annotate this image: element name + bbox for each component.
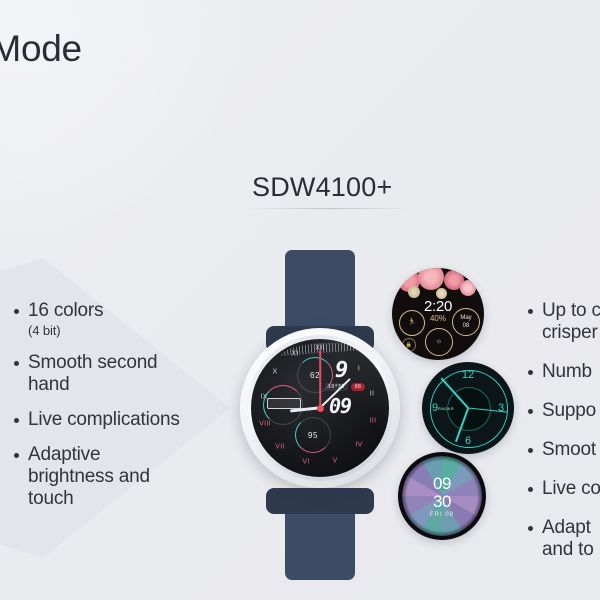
list-item-line2: and to xyxy=(542,539,594,561)
list-item-label: Up to c xyxy=(542,300,600,321)
flower-petal-icon xyxy=(460,280,476,296)
list-item: Smooth second hand xyxy=(14,352,224,396)
digital-hour-value: 9 xyxy=(323,361,385,381)
bullet-dot-icon xyxy=(528,409,533,414)
radar-numeral-12: 12 xyxy=(462,369,474,381)
lock-icon[interactable]: 🔒 xyxy=(402,338,416,352)
page-title: ient Mode xyxy=(0,28,82,70)
roman-numeral-vii: VII xyxy=(275,444,284,451)
digital-status-row: 10*36 08 xyxy=(323,383,385,391)
list-item-subtext: (4 bit) xyxy=(28,323,103,339)
left-feature-list: 16 colors (4 bit) Smooth second hand Liv… xyxy=(14,300,224,523)
watch-lug-bottom xyxy=(266,488,374,514)
watchface-floral[interactable]: 2:20 40% 🏃 May 08 ☼ 🔒 xyxy=(392,268,484,360)
bullet-dot-icon xyxy=(528,370,533,375)
smartwatch-render: XII XI X IX VIII VII VI V IV III II I 62… xyxy=(236,250,404,580)
watchface-radar[interactable]: 12 3 6 9 RADAR xyxy=(422,362,514,454)
list-item: 16 colors (4 bit) xyxy=(14,300,224,339)
list-item: Adaptive brightness and touch xyxy=(14,444,224,510)
product-model-label: SDW4100+ xyxy=(252,172,392,203)
bullet-dot-icon xyxy=(528,309,533,314)
floral-date: May 08 xyxy=(452,308,480,336)
roman-numeral-x: X xyxy=(273,369,278,376)
subdial-left-gauge xyxy=(267,398,301,409)
bullet-dot-icon xyxy=(528,448,533,453)
watch-case: XII XI X IX VIII VII VI V IV III II I 62… xyxy=(240,328,400,488)
digital-badge-value: 08 xyxy=(351,383,366,391)
subdial-bottom: 95 xyxy=(295,417,331,453)
radar-numeral-6: 6 xyxy=(465,435,471,447)
roman-numeral-viii: VIII xyxy=(259,421,271,428)
list-item-label: Smoot xyxy=(542,439,596,461)
bullet-dot-icon xyxy=(14,309,19,314)
petal-hour: 09 xyxy=(398,474,486,494)
list-item-line2: crisper xyxy=(542,322,600,344)
petal-minute: 30 xyxy=(398,492,486,512)
list-item: Smoot xyxy=(528,439,600,461)
digital-minute-value: 09 xyxy=(323,396,385,416)
hand-pivot xyxy=(317,405,324,412)
bullet-dot-icon xyxy=(528,526,533,531)
leaf-icon xyxy=(408,286,420,298)
list-item: Adapt and to xyxy=(528,517,600,561)
list-item-label: Numb xyxy=(542,361,592,383)
list-item: Live complications xyxy=(14,409,224,431)
list-item-label: Suppo xyxy=(542,400,596,422)
bullet-dot-icon xyxy=(528,487,533,492)
flower-petal-icon xyxy=(418,268,444,290)
roman-numeral-vi: VI xyxy=(302,459,309,466)
sun-icon[interactable]: ☼ xyxy=(425,328,453,356)
second-hand xyxy=(319,350,321,408)
roman-numeral-xi: XI xyxy=(291,351,298,358)
list-item-label: Live co xyxy=(542,478,600,500)
list-item-label: Adaptive brightness and touch xyxy=(28,444,150,510)
digital-overlay-panel: 9 10*36 08 09 xyxy=(323,361,385,416)
list-item: Numb xyxy=(528,361,600,383)
list-item: Up to c crisper xyxy=(528,300,600,344)
list-item: Live co xyxy=(528,478,600,500)
bullet-dot-icon xyxy=(14,453,19,458)
bullet-dot-icon xyxy=(14,418,19,423)
right-feature-list: Up to c crisper Numb Suppo Smoot Live co… xyxy=(528,300,600,578)
radar-brand-label: RADAR xyxy=(438,406,454,411)
watchface-petal[interactable]: 09 30 FRI 08 xyxy=(398,452,486,540)
slide-canvas: ient Mode mart SDW4100+ 16 colors (4 bit… xyxy=(0,0,600,600)
bullet-dot-icon xyxy=(14,361,19,366)
list-item-label: Live complications xyxy=(28,409,180,431)
list-item: Suppo xyxy=(528,400,600,422)
roman-numeral-v: V xyxy=(333,458,338,465)
running-icon[interactable]: 🏃 xyxy=(399,310,425,336)
roman-numeral-iii: III xyxy=(370,418,377,425)
roman-numeral-iv: IV xyxy=(355,442,362,449)
list-item-label: 16 colors xyxy=(28,300,103,321)
model-divider xyxy=(245,208,415,209)
petal-date: FRI 08 xyxy=(398,512,486,518)
list-item-label: Smooth second hand xyxy=(28,352,157,396)
watch-dial: XII XI X IX VIII VII VI V IV III II I 62… xyxy=(251,339,389,477)
list-item-label: Adapt xyxy=(542,517,591,538)
